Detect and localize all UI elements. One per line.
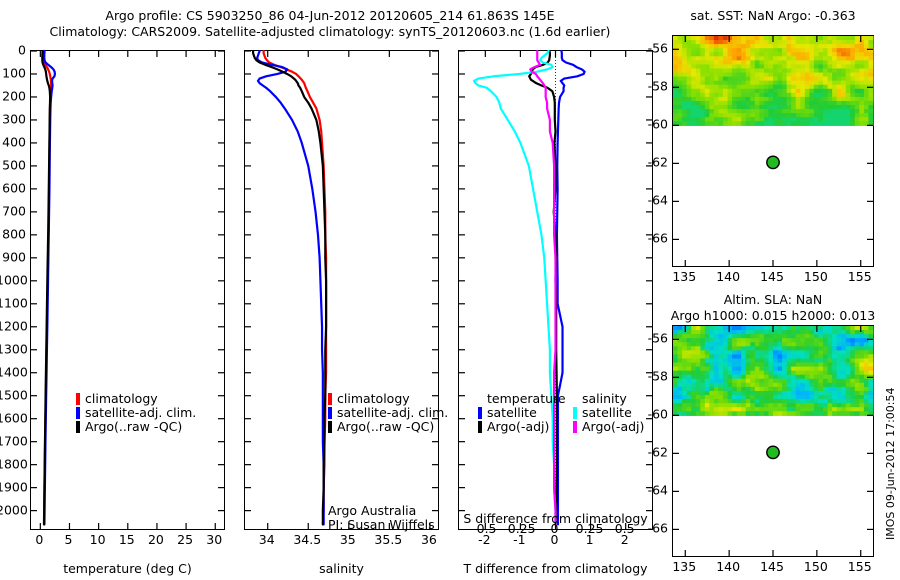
legend-label: satellite <box>487 406 537 420</box>
legend-label: Argo(-adj) <box>487 420 549 434</box>
series-satellite-adj-clim- <box>257 51 324 524</box>
depth-tick-1200: 1200 <box>0 318 26 333</box>
p3-top-xtick-4: 0.5 <box>615 521 635 536</box>
series-salinity-satellite <box>474 51 555 524</box>
p3-plot-area <box>459 51 652 529</box>
m2-plot-area <box>673 326 873 556</box>
sla-map-title-line2: Argo h1000: 0.015 h2000: 0.013 <box>660 308 886 323</box>
m1-lon-tick-155: 155 <box>848 269 872 284</box>
legend-label: Argo(..raw -QC) <box>337 420 434 434</box>
legend-item: satellite-adj. clim. <box>76 406 196 420</box>
legend-color-swatch <box>573 421 577 433</box>
legend-label: satellite-adj. clim. <box>337 406 448 420</box>
legend-item: satellite <box>573 406 644 420</box>
depth-tick-200: 200 <box>0 88 26 103</box>
legend-item: satellite-adj. clim. <box>328 406 448 420</box>
depth-tick-1400: 1400 <box>0 364 26 379</box>
m1-lat-tick--66: -66 <box>640 231 668 246</box>
m2-lat-tick--56: -56 <box>640 331 668 346</box>
p1-xtick-1: 5 <box>64 532 72 547</box>
sst-map-title: sat. SST: NaN Argo: -0.363 <box>668 8 878 23</box>
m2-lat-tick--60: -60 <box>640 407 668 422</box>
depth-tick-1100: 1100 <box>0 295 26 310</box>
t-difference-axis-label: T difference from climatology <box>458 561 653 576</box>
depth-tick-1300: 1300 <box>0 341 26 356</box>
page-title-line2: Climatology: CARS2009. Satellite-adjuste… <box>0 24 660 39</box>
legend-label: satellite <box>582 406 632 420</box>
legend-label: Argo(-adj) <box>582 420 644 434</box>
argo-australia-line1: Argo Australia <box>328 504 435 518</box>
depth-tick-1700: 1700 <box>0 433 26 448</box>
m2-lat-tick--64: -64 <box>640 483 668 498</box>
legend-item: Argo(-adj) <box>573 420 644 434</box>
temperature-axis-label: temperature (deg C) <box>30 561 225 576</box>
series-temperature-satellite <box>557 51 585 524</box>
p2-xtick-1: 34.5 <box>293 532 321 547</box>
legend-item: satellite <box>478 406 566 420</box>
legend-item: climatology <box>76 392 196 406</box>
m1-lat-tick--64: -64 <box>640 193 668 208</box>
legend-color-swatch <box>478 421 482 433</box>
depth-tick-1500: 1500 <box>0 387 26 402</box>
sst-map-panel[interactable] <box>672 35 874 267</box>
page-title-line1: Argo profile: CS 5903250_86 04-Jun-2012 … <box>0 8 660 23</box>
legend-color-swatch <box>328 407 332 419</box>
depth-tick-1600: 1600 <box>0 410 26 425</box>
m2-lat-tick--62: -62 <box>640 445 668 460</box>
p2-xtick-3: 35.5 <box>374 532 402 547</box>
argo-australia-line2: PI: Susan Wijffels <box>328 518 435 532</box>
m1-lat-tick--60: -60 <box>640 117 668 132</box>
temperature-legend: climatologysatellite-adj. clim.Argo(..ra… <box>76 392 196 434</box>
legend-item: climatology <box>328 392 448 406</box>
depth-tick-1000: 1000 <box>0 272 26 287</box>
series-argo-raw-qc- <box>253 51 326 524</box>
profile-location-marker[interactable] <box>767 156 779 168</box>
p2-plot-area <box>245 51 438 529</box>
legend-header: temperature <box>478 392 566 406</box>
legend-color-swatch <box>76 407 80 419</box>
depth-tick-300: 300 <box>0 111 26 126</box>
m2-lon-tick-145: 145 <box>760 559 784 574</box>
p1-xtick-5: 25 <box>177 532 193 547</box>
p2-xtick-4: 36 <box>421 532 437 547</box>
legend-color-swatch <box>478 407 482 419</box>
legend-label: climatology <box>337 392 410 406</box>
p2-xtick-2: 35 <box>340 532 356 547</box>
m1-lat-tick--62: -62 <box>640 155 668 170</box>
legend-color-swatch <box>573 407 577 419</box>
m1-lon-tick-145: 145 <box>760 269 784 284</box>
legend-label: climatology <box>85 392 158 406</box>
legend-item: Argo(..raw -QC) <box>328 420 448 434</box>
legend-label: Argo(..raw -QC) <box>85 420 182 434</box>
depth-tick-400: 400 <box>0 134 26 149</box>
profile-location-marker[interactable] <box>767 446 779 458</box>
depth-tick-800: 800 <box>0 226 26 241</box>
p2-xtick-0: 34 <box>259 532 275 547</box>
depth-tick-100: 100 <box>0 65 26 80</box>
p1-plot-area <box>31 51 224 529</box>
depth-tick-700: 700 <box>0 203 26 218</box>
m2-lon-tick-135: 135 <box>672 559 696 574</box>
m2-lat-tick--58: -58 <box>640 369 668 384</box>
p1-xtick-2: 10 <box>90 532 106 547</box>
p1-xtick-3: 15 <box>119 532 135 547</box>
legend-item: Argo(..raw -QC) <box>76 420 196 434</box>
difference-legend-salinity: salinitysatelliteArgo(-adj) <box>573 392 644 434</box>
m1-lat-tick--58: -58 <box>640 79 668 94</box>
legend-label: satellite-adj. clim. <box>85 406 196 420</box>
difference-profile-panel[interactable] <box>458 50 653 530</box>
depth-tick-0: 0 <box>0 43 26 58</box>
sla-map-title-line1: Altim. SLA: NaN <box>668 292 878 307</box>
depth-tick-900: 900 <box>0 249 26 264</box>
legend-color-swatch <box>76 393 80 405</box>
p3-top-xtick-2: 0 <box>551 521 559 536</box>
temperature-profile-panel[interactable] <box>30 50 225 530</box>
depth-tick-1800: 1800 <box>0 456 26 471</box>
difference-legend-temperature: temperaturesatelliteArgo(-adj) <box>478 392 566 434</box>
m1-lat-tick--56: -56 <box>640 41 668 56</box>
p3-top-xtick-0: -0.5 <box>472 521 496 536</box>
m2-lon-tick-150: 150 <box>804 559 828 574</box>
legend-item: Argo(-adj) <box>478 420 566 434</box>
m1-plot-area <box>673 36 873 266</box>
depth-tick-500: 500 <box>0 157 26 172</box>
imos-watermark: IMOS 09-Jun-2012 17:00:54 <box>884 387 897 540</box>
m2-lon-tick-155: 155 <box>848 559 872 574</box>
depth-tick-600: 600 <box>0 180 26 195</box>
legend-color-swatch <box>328 393 332 405</box>
p3-top-xtick-1: -0.25 <box>503 521 535 536</box>
legend-color-swatch <box>76 421 80 433</box>
salinity-profile-panel[interactable] <box>244 50 439 530</box>
salinity-axis-label: salinity <box>244 561 439 576</box>
sla-map-panel[interactable] <box>672 325 874 557</box>
heatmap-cells <box>673 36 874 126</box>
depth-tick-1900: 1900 <box>0 479 26 494</box>
depth-tick-2000: 2000 <box>0 502 26 517</box>
m2-lon-tick-140: 140 <box>716 559 740 574</box>
m1-lon-tick-135: 135 <box>672 269 696 284</box>
m1-lon-tick-150: 150 <box>804 269 828 284</box>
p1-xtick-6: 30 <box>206 532 222 547</box>
legend-header: salinity <box>573 392 644 406</box>
heatmap-cells <box>673 326 874 416</box>
salinity-legend: climatologysatellite-adj. clim.Argo(..ra… <box>328 392 448 434</box>
m1-lon-tick-140: 140 <box>716 269 740 284</box>
p1-xtick-0: 0 <box>35 532 43 547</box>
series-salinity-argo-adj- <box>530 51 555 524</box>
m2-lat-tick--66: -66 <box>640 521 668 536</box>
legend-color-swatch <box>328 421 332 433</box>
argo-australia-annotation: Argo Australia PI: Susan Wijffels <box>328 504 435 532</box>
p1-xtick-4: 20 <box>148 532 164 547</box>
p3-top-xtick-3: 0.25 <box>576 521 604 536</box>
